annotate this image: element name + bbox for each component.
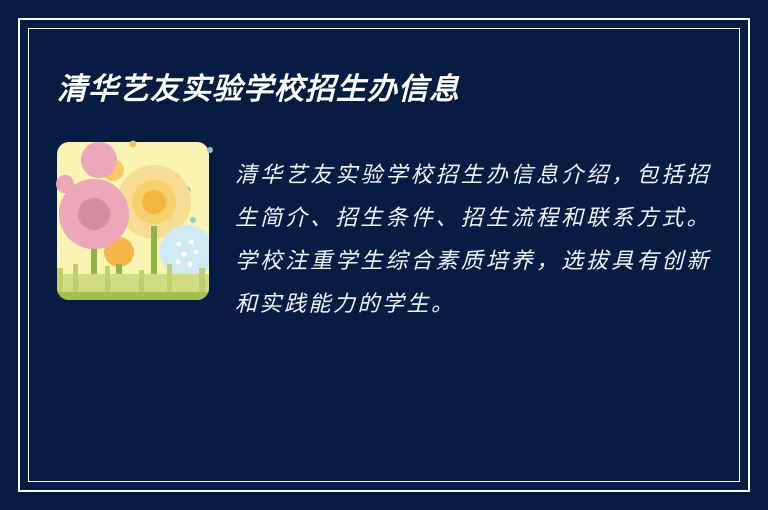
- content-row: 清华艺友实验学校招生办信息介绍，包括招生简介、招生条件、招生流程和联系方式。学校…: [57, 142, 711, 326]
- page-title: 清华艺友实验学校招生办信息: [57, 64, 460, 108]
- flowers-illustration-svg: [47, 134, 223, 310]
- flowers-garden-illustration: [57, 142, 209, 300]
- body-paragraph: 清华艺友实验学校招生办信息介绍，包括招生简介、招生条件、招生流程和联系方式。学校…: [235, 142, 711, 326]
- poster-canvas: 清华艺友实验学校招生办信息: [0, 0, 768, 510]
